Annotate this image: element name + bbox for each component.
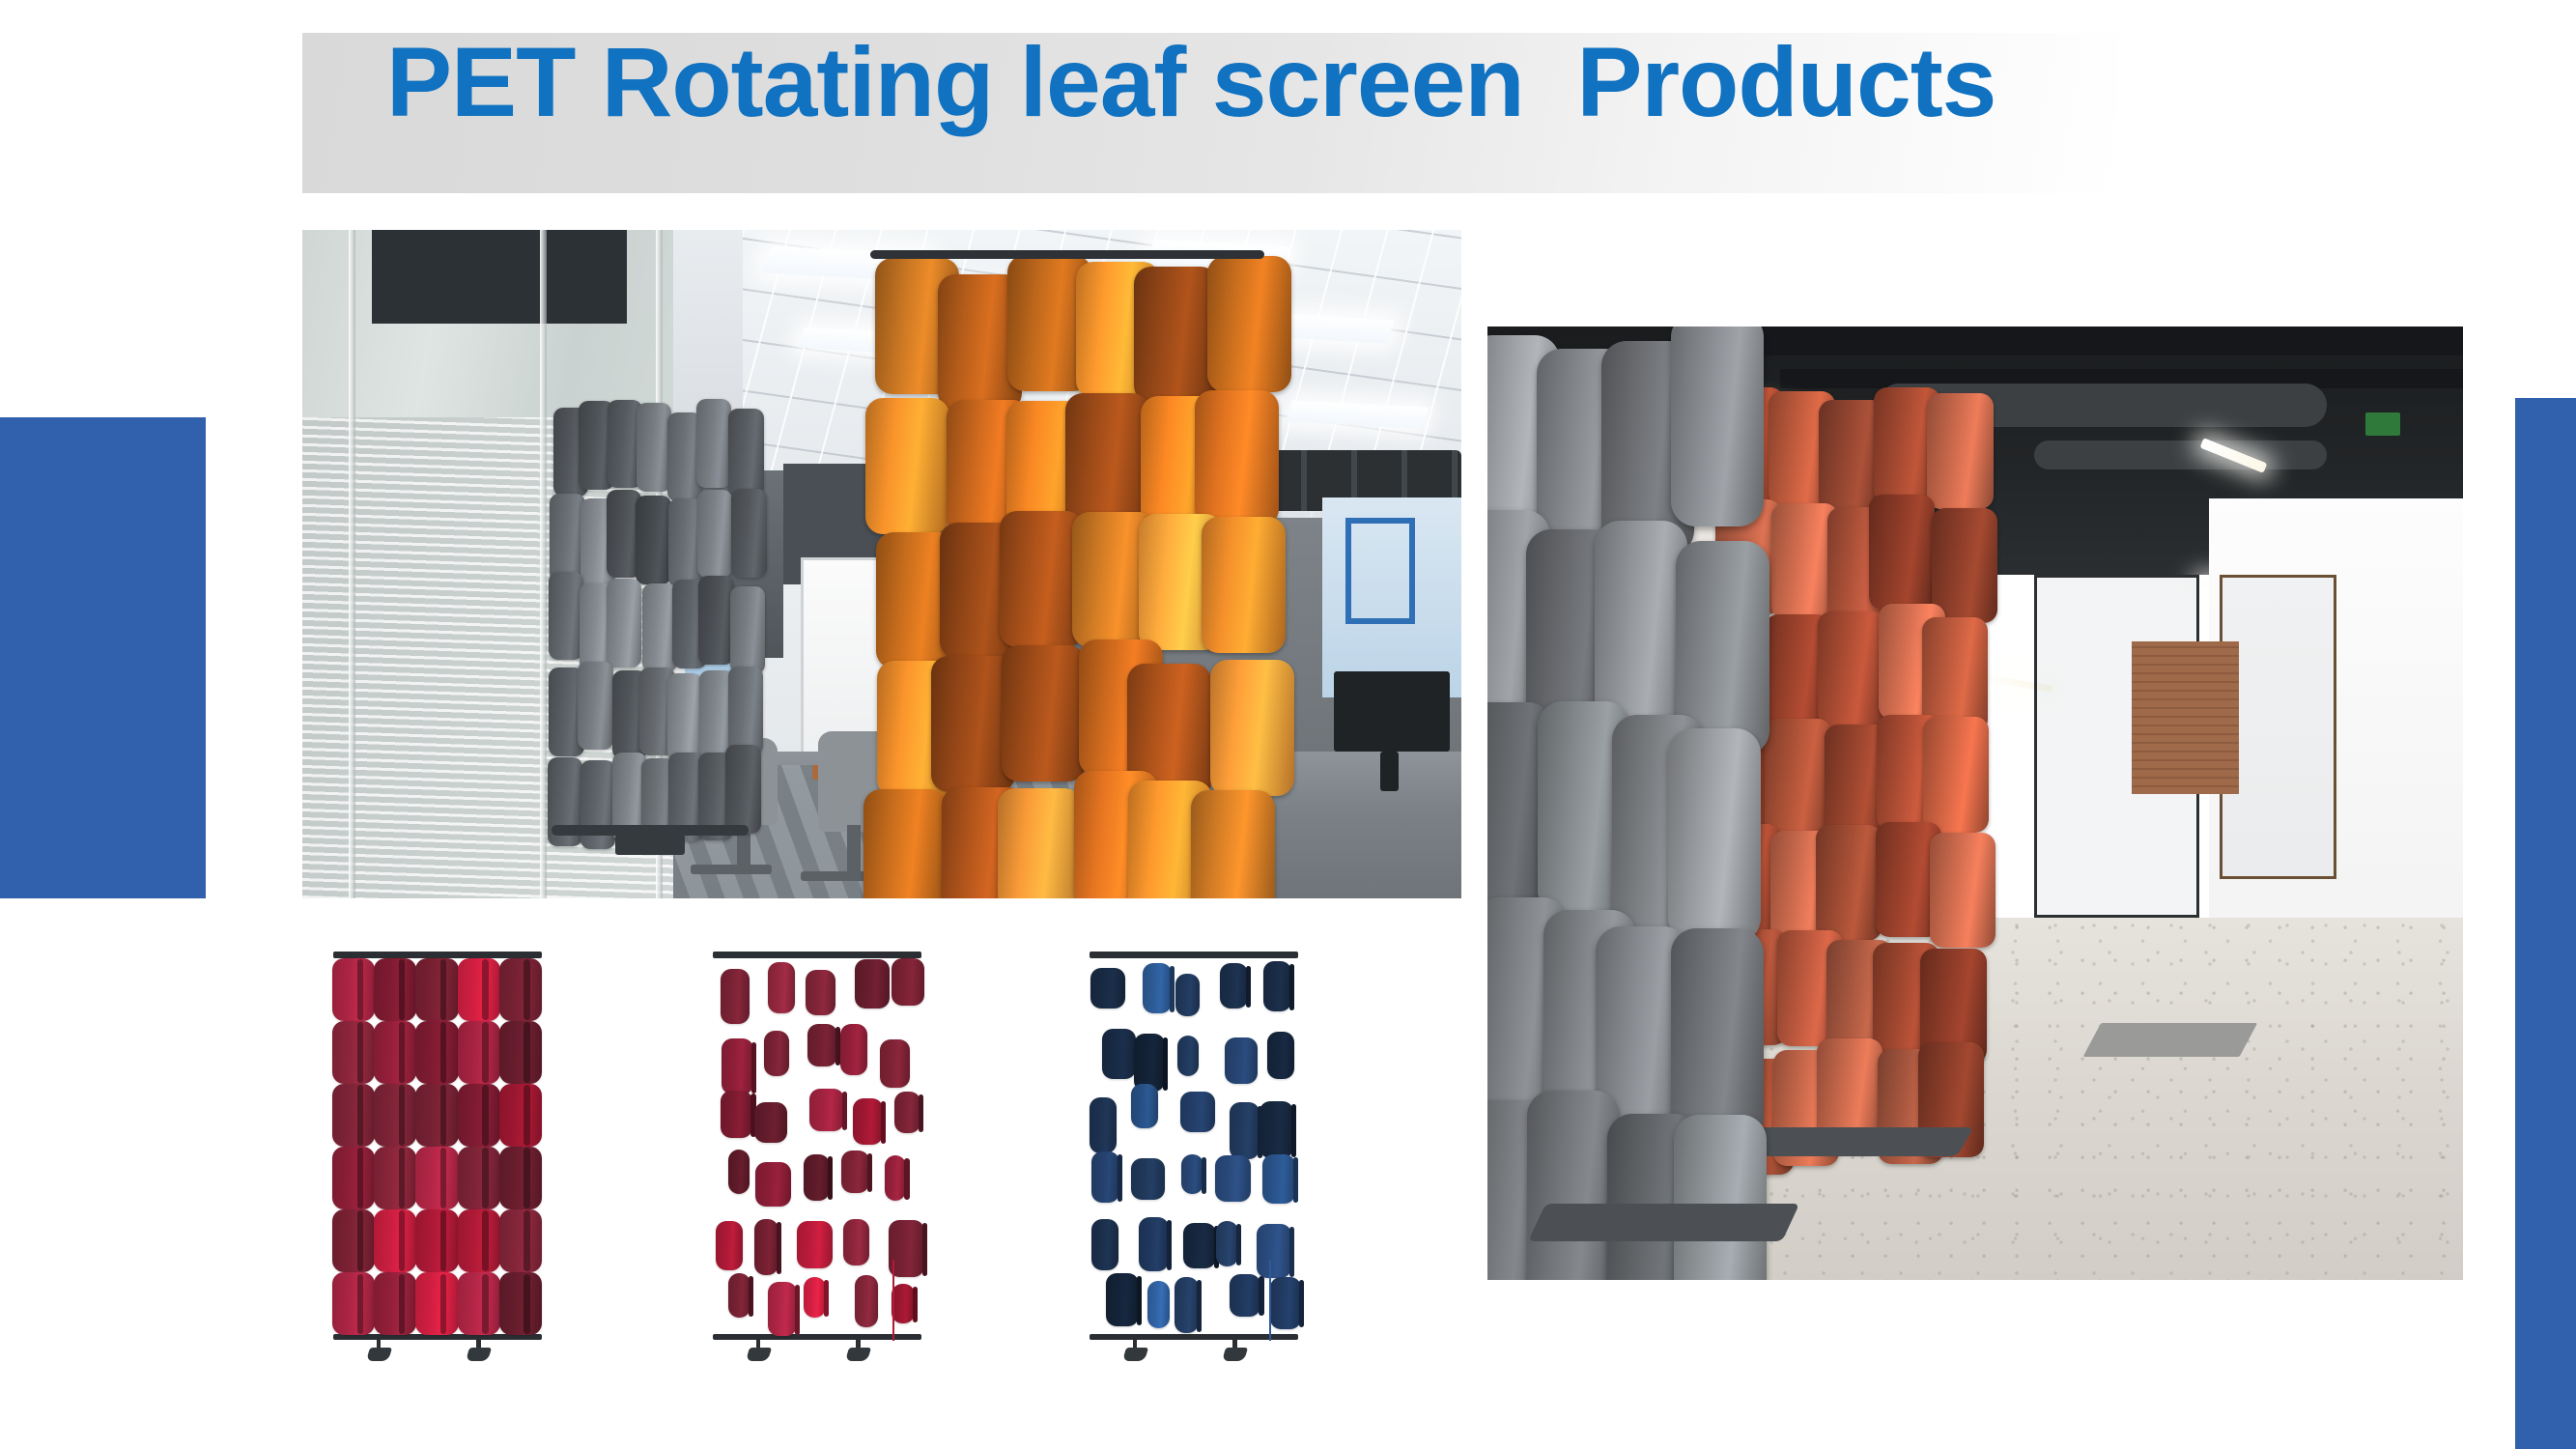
- leaf-panel: [731, 489, 766, 578]
- leaf-panel: [482, 1274, 488, 1334]
- leaf-panel: [1091, 1219, 1118, 1269]
- leaf-panel: [1818, 611, 1883, 727]
- leaf-panel: [357, 1022, 363, 1082]
- blue-window-frame: [1345, 518, 1415, 625]
- leaf-panel: [855, 1275, 878, 1328]
- leaf-panel: [1220, 963, 1248, 1009]
- leaf-panel: [482, 959, 488, 1019]
- product-red-open-screen: [708, 952, 925, 1357]
- grey-rotating-leaf-screen: [1487, 327, 1741, 1280]
- leaf-panel: [399, 1148, 405, 1207]
- leaf-panel: [458, 1021, 500, 1084]
- leaf-panel: [754, 1102, 787, 1142]
- leaf-panel: [458, 958, 500, 1021]
- leaf-panel: [728, 667, 763, 755]
- grey-rotating-leaf-screen: [546, 397, 754, 832]
- leaf-panel: [754, 1219, 778, 1275]
- leaf-panel: [1065, 393, 1149, 529]
- leaf-panel: [1923, 717, 1989, 833]
- leaf-panel: [524, 1274, 529, 1334]
- screen-foot: [1222, 1348, 1248, 1361]
- screen-foot: [745, 1348, 771, 1361]
- leaf-panel: [499, 1021, 542, 1084]
- leaf-panel: [1765, 719, 1830, 835]
- leaf-panel: [865, 398, 949, 534]
- leaf-panel: [440, 1274, 446, 1334]
- leaf-panel: [1090, 1097, 1116, 1154]
- leaf-panel: [499, 1084, 542, 1147]
- leaf-panel: [863, 789, 948, 898]
- leaf-panel: [1259, 1276, 1263, 1316]
- leaf-panel: [357, 1274, 363, 1334]
- glass-mullion: [349, 230, 355, 898]
- leaf-panel: [1527, 1091, 1620, 1281]
- leaf-panel: [1180, 1092, 1216, 1132]
- leaf-panel: [853, 1098, 883, 1145]
- leaf-panel: [415, 1272, 458, 1335]
- leaf-panel: [809, 1089, 843, 1131]
- orange-rotating-leaf-screen: [870, 250, 1264, 898]
- leaf-panel: [728, 409, 763, 497]
- leaf-panel: [332, 1147, 375, 1209]
- leaf-panel: [440, 1022, 446, 1082]
- leaf-panel: [482, 1022, 488, 1082]
- leaf-panel: [1230, 1274, 1260, 1317]
- leaf-panel: [482, 1085, 488, 1145]
- leaf-panel: [458, 1209, 500, 1272]
- leaf-panel: [722, 1038, 753, 1094]
- leaf-panel: [728, 1150, 750, 1194]
- leaf-panel: [1260, 1101, 1292, 1158]
- leaf-panel: [332, 1084, 375, 1147]
- leaf-panel: [698, 576, 733, 665]
- leaf-panel: [357, 1148, 363, 1207]
- leaf-panel: [1137, 1276, 1142, 1325]
- terracotta-screen-base: [1742, 1127, 1973, 1156]
- leaf-panel: [524, 1210, 529, 1270]
- leaf-panel: [1106, 1273, 1139, 1327]
- photo-office-orange-screen: [302, 230, 1461, 898]
- leaf-panel: [440, 1085, 446, 1145]
- chair-base: [691, 865, 772, 874]
- leaf-panel: [1216, 1221, 1238, 1266]
- leaf-panel: [1267, 1032, 1294, 1079]
- page-title: PET Rotating leaf screen Products: [386, 29, 2318, 135]
- leaf-panel: [1207, 256, 1291, 392]
- leaf-panel: [524, 1022, 529, 1082]
- left-accent-bar: [0, 417, 206, 898]
- screen-top-rail: [1090, 952, 1298, 958]
- leaf-panel: [399, 1274, 405, 1334]
- leaf-panel: [357, 959, 363, 1019]
- leaf-panel: [777, 1222, 781, 1273]
- leaf-panel: [440, 1210, 446, 1270]
- leaf-panel: [374, 958, 416, 1021]
- leaf-panel: [1163, 1037, 1168, 1091]
- leaf-panel: [1175, 1277, 1199, 1334]
- leaf-panel: [1131, 1158, 1165, 1199]
- leaf-panel: [795, 1285, 800, 1335]
- leaf-panel: [1197, 1280, 1202, 1332]
- leaf-panel: [840, 1024, 867, 1075]
- leaf-panel: [797, 1221, 832, 1269]
- leaf-panel: [804, 1154, 830, 1202]
- leaf-panel: [725, 745, 760, 834]
- leaf-panel: [730, 586, 765, 675]
- leaf-panel: [374, 1272, 416, 1335]
- leaf-panel: [697, 490, 732, 579]
- leaf-panel: [1262, 1154, 1295, 1204]
- leaf-panel: [1118, 1154, 1122, 1202]
- leaf-panel: [667, 673, 702, 762]
- leaf-panel: [842, 1092, 847, 1130]
- leaf-panel: [458, 1084, 500, 1147]
- monitor-stand: [1380, 752, 1399, 792]
- leaf-panel: [1927, 393, 1993, 509]
- leaf-panel: [399, 959, 405, 1019]
- leaf-panel: [482, 1148, 488, 1207]
- leaf-panel: [1177, 1036, 1200, 1076]
- leaf-panel: [1291, 1104, 1296, 1157]
- leaf-panel: [998, 788, 1082, 898]
- leaf-panel: [499, 1147, 542, 1209]
- screen-foot: [1121, 1348, 1147, 1361]
- leaf-panel: [1230, 1102, 1260, 1158]
- ceiling-beam: [1702, 327, 2463, 355]
- leaf-panel: [807, 1024, 837, 1066]
- leaf-panel: [885, 1155, 907, 1201]
- leaf-panel: [415, 1084, 458, 1147]
- screen-cord: [892, 1260, 894, 1341]
- leaf-panel: [1246, 966, 1251, 1008]
- dark-soffit: [372, 230, 627, 324]
- leaf-panel: [764, 1031, 789, 1076]
- leaf-panel: [1147, 1281, 1170, 1328]
- leaf-panel: [913, 1287, 918, 1322]
- screen-top-rail: [713, 952, 921, 958]
- leaf-panel: [843, 1219, 870, 1266]
- leaf-panel: [1143, 963, 1172, 1013]
- floor-mat: [2083, 1023, 2257, 1057]
- leaf-panel: [881, 1101, 886, 1144]
- leaf-panel: [751, 1042, 756, 1094]
- screen-foot: [845, 1348, 871, 1361]
- leaf-panel: [440, 959, 446, 1019]
- leaf-panel: [499, 1209, 542, 1272]
- leaf-panel: [1202, 517, 1286, 653]
- leaf-panel: [841, 1151, 869, 1193]
- leaf-panel: [399, 1210, 405, 1270]
- leaf-panel: [880, 1039, 909, 1089]
- leaf-panel: [749, 1276, 753, 1317]
- leaf-panel: [332, 1272, 375, 1335]
- leaf-panel: [415, 958, 458, 1021]
- leaf-panel: [806, 970, 835, 1015]
- ceiling-duct: [2034, 440, 2327, 469]
- leaf-panel: [894, 1092, 920, 1132]
- leaf-panel: [1263, 961, 1291, 1011]
- brick-wall: [2132, 641, 2239, 794]
- monitor: [1334, 671, 1450, 752]
- leaf-panel: [499, 958, 542, 1021]
- leaf-panel: [1202, 1157, 1206, 1194]
- leaf-panel: [399, 1085, 405, 1145]
- product-blue-open-screen: [1085, 952, 1302, 1357]
- grey-screen-base: [1527, 1204, 1798, 1241]
- photo-office-grey-screen: [1487, 327, 2463, 1280]
- leaf-panel: [855, 959, 891, 1009]
- leaf-panel: [1134, 267, 1218, 403]
- leaf-panel: [1299, 1280, 1304, 1327]
- leaf-panel: [1210, 660, 1294, 796]
- leaf-panel: [578, 662, 612, 751]
- leaf-panel: [524, 1085, 529, 1145]
- leaf-panel: [357, 1210, 363, 1270]
- screen-bottom-rail: [1090, 1334, 1298, 1341]
- leaf-panel: [1102, 1029, 1136, 1079]
- leaf-panel: [1091, 1151, 1119, 1204]
- leaf-panel: [524, 959, 529, 1019]
- leaf-panel: [696, 399, 731, 488]
- leaf-panel: [1183, 1223, 1216, 1269]
- leaf-panel: [1257, 1224, 1291, 1278]
- leaf-panel: [1167, 1220, 1172, 1270]
- leaf-panel: [755, 1162, 791, 1207]
- leaf-panel: [1668, 728, 1761, 942]
- leaf-panel: [824, 1280, 829, 1317]
- screen-bottom-rail: [713, 1334, 921, 1341]
- leaf-panel: [892, 958, 924, 1006]
- leaf-panel: [721, 1091, 752, 1138]
- leaf-panel: [374, 1147, 416, 1209]
- leaf-panel: [1002, 645, 1086, 781]
- leaf-panel: [499, 1272, 542, 1335]
- leaf-panel: [1000, 511, 1084, 647]
- leaf-panel: [721, 969, 750, 1024]
- leaf-panel: [440, 1148, 446, 1207]
- leaf-panel: [1236, 1224, 1241, 1265]
- chair-column: [847, 825, 861, 878]
- leaf-panel: [1671, 327, 1764, 526]
- leaf-panel: [1181, 1154, 1203, 1194]
- leaf-panel: [1930, 833, 1996, 949]
- exit-sign: [2365, 412, 2400, 436]
- leaf-panel: [549, 572, 583, 661]
- leaf-panel: [1191, 790, 1275, 898]
- leaf-panel: [357, 1085, 363, 1145]
- leaf-panel: [1170, 966, 1175, 1012]
- orange-screen-top-rail: [870, 250, 1264, 260]
- leaf-panel: [1671, 928, 1764, 1142]
- leaf-panel: [1225, 1037, 1258, 1084]
- leaf-panel: [399, 1022, 405, 1082]
- leaf-panel: [828, 1156, 833, 1200]
- leaf-panel: [607, 579, 641, 668]
- leaf-panel: [332, 1021, 375, 1084]
- leaf-panel: [1270, 1277, 1301, 1329]
- leaf-panel: [482, 1210, 488, 1270]
- leaf-panel: [415, 1209, 458, 1272]
- leaf-panel: [835, 1027, 840, 1065]
- leaf-panel: [458, 1272, 500, 1335]
- leaf-panel: [1175, 974, 1200, 1016]
- leaf-panel: [1195, 390, 1279, 526]
- leaf-panel: [1674, 1115, 1767, 1280]
- leaf-panel: [415, 1021, 458, 1084]
- leaf-panel: [867, 1153, 872, 1193]
- leaf-panel: [374, 1021, 416, 1084]
- screen-foot: [365, 1348, 391, 1361]
- leaf-panel: [1139, 1217, 1169, 1271]
- leaf-panel: [716, 1221, 742, 1270]
- leaf-panel: [1816, 825, 1882, 941]
- leaf-panel: [728, 1273, 750, 1318]
- leaf-panel: [332, 958, 375, 1021]
- leaf-panel: [1932, 508, 1997, 624]
- leaf-panel: [458, 1147, 500, 1209]
- leaf-panel: [892, 1284, 916, 1323]
- leaf-panel: [1289, 964, 1294, 1010]
- leaf-panel: [768, 962, 795, 1013]
- leaf-panel: [1131, 1084, 1158, 1128]
- product-red-dense-screen: [328, 952, 546, 1357]
- leaf-panel: [636, 496, 670, 584]
- leaf-panel: [919, 1094, 923, 1132]
- leaf-panel: [332, 1209, 375, 1272]
- leaf-panel: [374, 1209, 416, 1272]
- screen-foot: [466, 1348, 492, 1361]
- leaf-panel: [922, 1223, 927, 1275]
- leaf-panel: [1090, 968, 1125, 1009]
- grey-screen-foot: [615, 835, 685, 855]
- leaf-panel: [804, 1277, 826, 1318]
- leaf-panel: [1869, 495, 1935, 611]
- right-accent-bar: [2515, 398, 2576, 1449]
- leaf-panel: [768, 1282, 797, 1336]
- screen-top-rail: [333, 952, 542, 958]
- leaf-panel: [524, 1148, 529, 1207]
- leaf-panel: [1293, 1157, 1298, 1203]
- leaf-panel: [415, 1147, 458, 1209]
- leaf-panel: [1134, 1034, 1165, 1092]
- leaf-panel: [1289, 1227, 1294, 1277]
- leaf-panel: [374, 1084, 416, 1147]
- leaf-panel: [1215, 1155, 1250, 1202]
- leaf-panel: [904, 1158, 909, 1201]
- screen-cord: [1269, 1260, 1271, 1341]
